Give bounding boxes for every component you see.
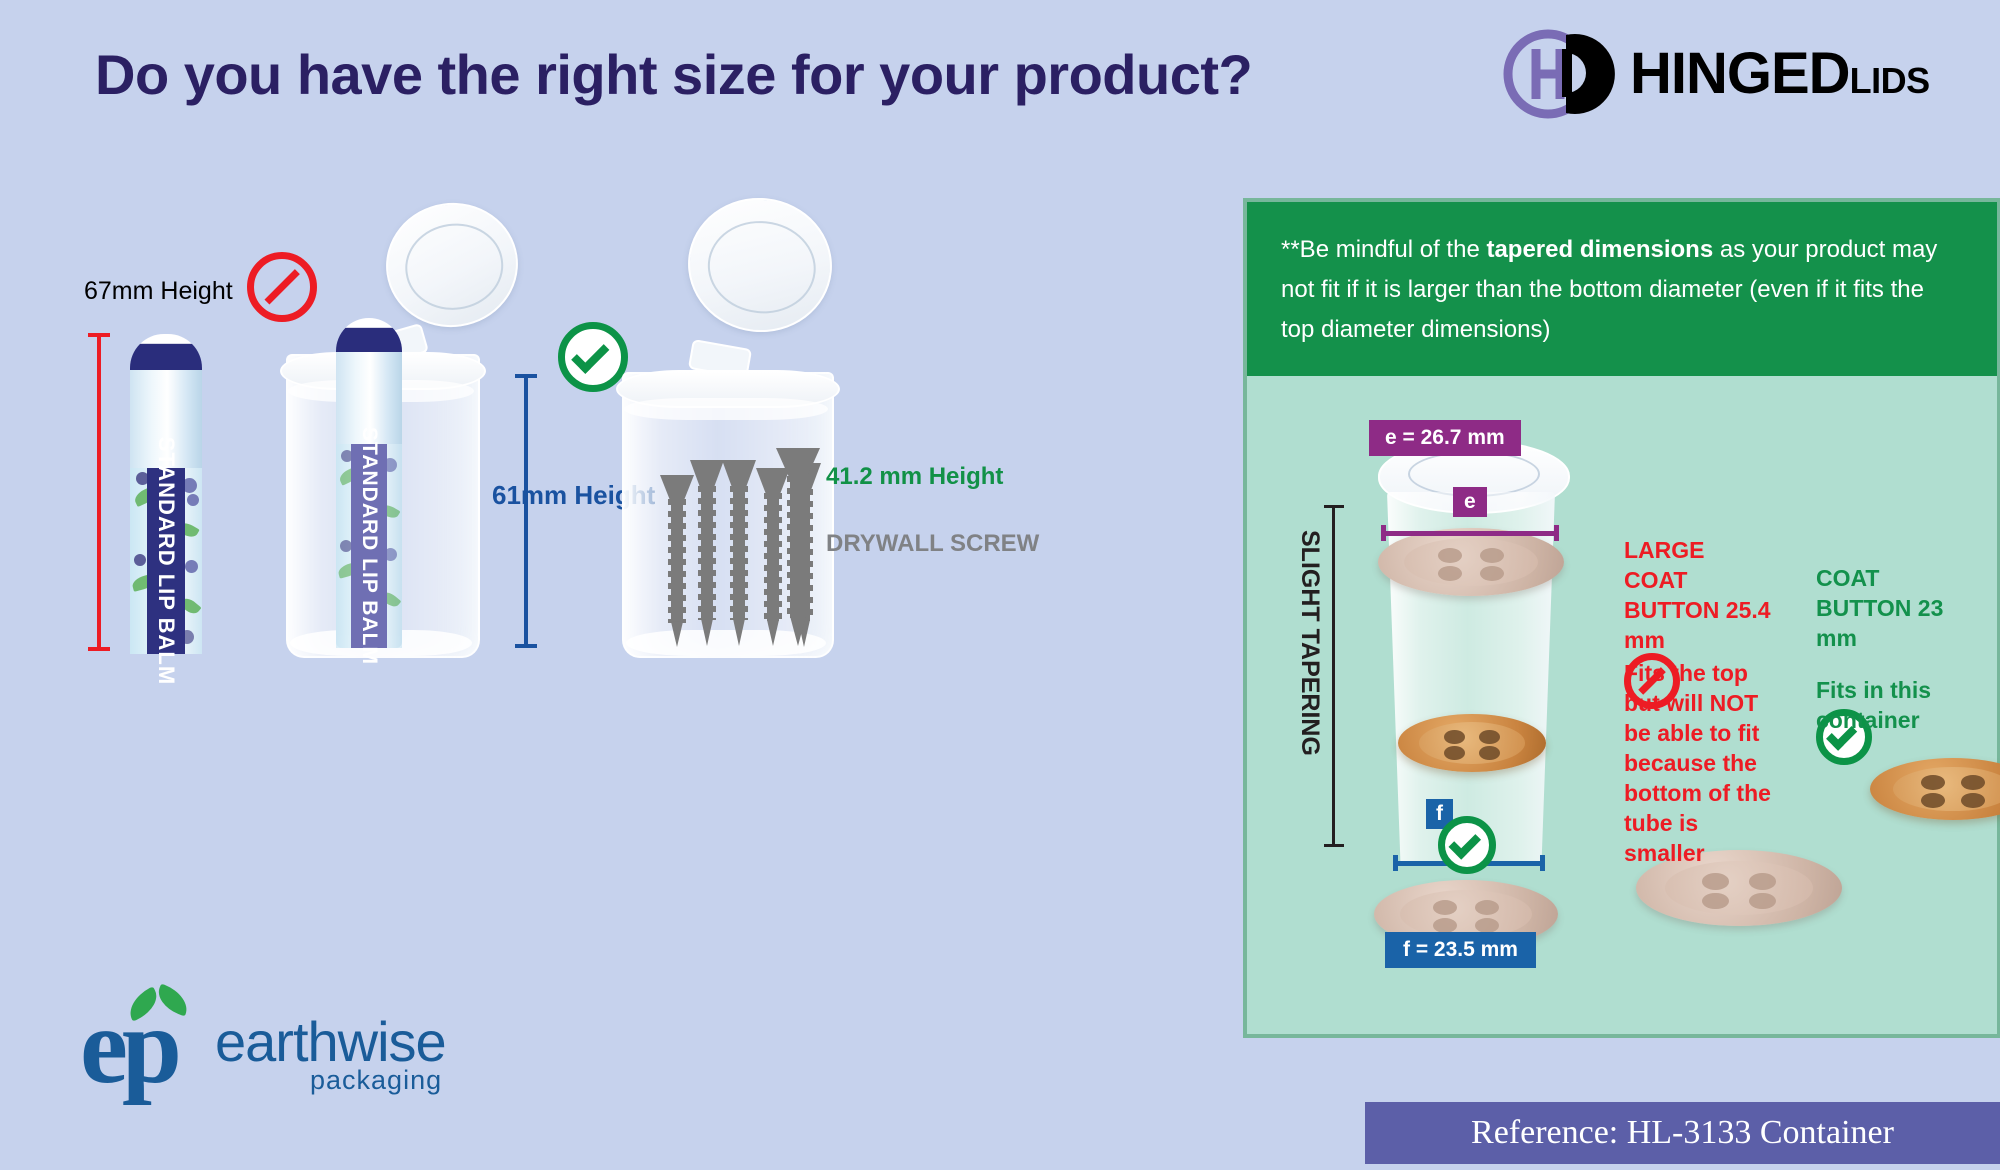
hingedlids-logo: HINGEDLIDS [1500, 22, 1980, 127]
no-entry-icon [247, 252, 317, 322]
tapering-label-text: SLIGHT TAPERING [1295, 530, 1324, 756]
lip-balm-tube: STANDARD LIP BALM [130, 334, 202, 654]
bottom-diameter-badge: f = 23.5 mm [1385, 932, 1536, 968]
lip-balm-name-band: STANDARD LIP BALM [147, 468, 185, 654]
tapering-note: **Be mindful of the tapered dimensions a… [1247, 202, 1997, 376]
page-title: Do you have the right size for your prod… [95, 42, 1252, 107]
screw-height-label: 41.2 mm Height [826, 463, 1003, 491]
large-button-title: LARGE COAT BUTTON 25.4 mm [1624, 535, 1774, 655]
earthwise-packaging-logo: ep earthwise packaging [80, 985, 470, 1105]
large-button-description: Fits the top but will NOT be able to fit… [1624, 658, 1776, 868]
note-bold: tapered dimensions [1486, 236, 1713, 263]
reference-bar: Reference: HL-3133 Container [1365, 1102, 2000, 1164]
drywall-screw-in-container [722, 460, 756, 646]
tapering-label: SLIGHT TAPERING [1290, 530, 1330, 830]
container-dimension-bar [515, 374, 537, 648]
coat-button-fitting [1398, 714, 1546, 772]
screw-name-label: DRYWALL SCREW [826, 530, 1039, 558]
ok-button-description: Fits in this container [1816, 675, 1956, 735]
container-lid-open-1 [378, 194, 526, 335]
brand-name-secondary: LIDS [1850, 60, 1930, 101]
brand-name-primary: HINGED [1630, 41, 1850, 106]
hingedlids-mark-icon [1500, 27, 1630, 122]
container-lid-open-2 [681, 191, 838, 339]
top-diameter-arrow [1381, 525, 1559, 541]
drywall-screw-in-container [660, 475, 694, 647]
lip-balm-dimension-bar [88, 333, 110, 651]
ok-button-title: COAT BUTTON 23 mm [1816, 563, 1966, 653]
top-diameter-badge: e = 26.7 mm [1369, 420, 1521, 456]
lip-balm-name-text-2: STANDARD LIP BALM [357, 427, 381, 665]
drywall-screw-in-container [690, 460, 724, 646]
lip-balm-name-band-2: STANDARD LIP BALM [351, 444, 387, 648]
top-diameter-marker: e [1453, 487, 1487, 517]
packaging-wordmark: packaging [310, 1065, 442, 1096]
check-circle-icon [1438, 816, 1496, 874]
lip-balm-tube-inside-container: STANDARD LIP BALM [336, 318, 402, 648]
hingedlids-wordmark: HINGEDLIDS [1630, 45, 1930, 103]
lip-balm-name-text: STANDARD LIP BALM [153, 437, 179, 685]
note-prefix: **Be mindful of the [1281, 236, 1486, 263]
lip-balm-cap [130, 334, 202, 374]
check-circle-icon [558, 322, 628, 392]
drywall-screw-reference [776, 448, 820, 646]
lip-balm-height-label: 67mm Height [84, 277, 233, 306]
